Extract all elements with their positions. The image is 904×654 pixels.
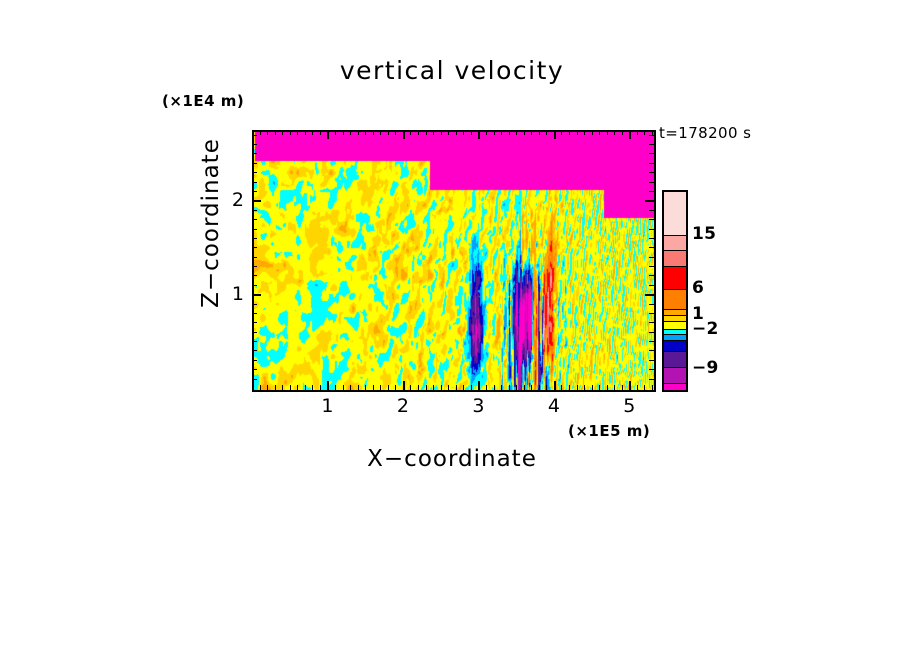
x-axis-minor-tick-top xyxy=(358,130,359,135)
colorbar-tick-label: 6 xyxy=(692,278,704,298)
colorbar-tick-label: 15 xyxy=(692,224,716,244)
x-axis-major-tick-top xyxy=(478,130,480,139)
x-axis-minor-tick-top xyxy=(569,130,570,135)
y-axis-minor-tick xyxy=(252,247,257,248)
x-axis-minor-tick-top xyxy=(260,130,261,135)
y-axis-minor-tick-right xyxy=(649,313,654,314)
x-axis-minor-tick-top xyxy=(577,130,578,135)
x-axis-major-tick xyxy=(403,381,405,390)
colorbar-band-divider xyxy=(664,250,686,251)
y-axis-minor-tick xyxy=(252,285,257,286)
x-axis-minor-tick xyxy=(290,385,291,390)
x-axis-minor-tick xyxy=(395,385,396,390)
x-axis-minor-tick-top xyxy=(607,130,608,135)
y-axis-minor-tick-right xyxy=(649,144,654,145)
x-axis-minor-tick-top xyxy=(584,130,585,135)
y-axis-minor-tick xyxy=(252,313,257,314)
x-axis-minor-tick-top xyxy=(622,130,623,135)
x-axis-minor-tick-top xyxy=(267,130,268,135)
x-axis-major-tick-top xyxy=(403,130,405,139)
x-axis-minor-tick xyxy=(592,385,593,390)
y-axis-minor-tick xyxy=(252,182,257,183)
x-axis-minor-tick xyxy=(358,385,359,390)
colorbar-band xyxy=(664,192,686,236)
x-axis-minor-tick-top xyxy=(644,130,645,135)
y-axis-title-container: Z−coordinate xyxy=(196,60,226,390)
y-axis-minor-tick xyxy=(252,153,257,154)
x-axis-minor-tick-top xyxy=(456,130,457,135)
y-axis-minor-tick-right xyxy=(649,163,654,164)
x-axis-minor-tick-top xyxy=(486,130,487,135)
colorbar-band-divider xyxy=(664,315,686,316)
colorbar-tick-label: −9 xyxy=(692,358,719,378)
x-axis-minor-tick xyxy=(584,385,585,390)
y-axis-minor-tick-right xyxy=(649,322,654,323)
x-axis-minor-tick xyxy=(509,385,510,390)
y-axis-minor-tick xyxy=(252,163,257,164)
y-axis-minor-tick xyxy=(252,219,257,220)
y-axis-minor-tick xyxy=(252,275,257,276)
y-axis-major-tick xyxy=(252,200,261,202)
x-axis-minor-tick xyxy=(577,385,578,390)
x-axis-minor-tick xyxy=(380,385,381,390)
x-axis-tick-label: 2 xyxy=(388,395,418,417)
y-axis-minor-tick xyxy=(252,257,257,258)
y-axis-minor-tick-right xyxy=(649,379,654,380)
y-axis-major-tick xyxy=(252,294,261,296)
x-axis-minor-tick xyxy=(569,385,570,390)
x-axis-minor-tick xyxy=(418,385,419,390)
x-axis-major-tick-top xyxy=(554,130,556,139)
colorbar-band-divider xyxy=(664,266,686,267)
y-axis-minor-tick xyxy=(252,341,257,342)
x-axis-minor-tick xyxy=(561,385,562,390)
x-axis-minor-tick-top xyxy=(282,130,283,135)
colorbar-band xyxy=(664,368,686,384)
x-axis-minor-tick xyxy=(652,385,653,390)
y-axis-minor-tick-right xyxy=(649,360,654,361)
y-axis-minor-tick xyxy=(252,350,257,351)
x-axis-minor-tick xyxy=(305,385,306,390)
x-axis-minor-tick-top xyxy=(448,130,449,135)
colorbar[interactable] xyxy=(662,190,688,392)
x-axis-minor-tick xyxy=(320,385,321,390)
colorbar-tick-label: −2 xyxy=(692,319,719,339)
x-axis-minor-tick-top xyxy=(388,130,389,135)
y-axis-tick-label: 1 xyxy=(214,283,244,305)
x-axis-minor-tick xyxy=(275,385,276,390)
x-axis-minor-tick xyxy=(463,385,464,390)
contour-plot-area[interactable] xyxy=(252,130,656,392)
colorbar-band xyxy=(664,290,686,310)
x-axis-minor-tick xyxy=(524,385,525,390)
x-axis-minor-tick xyxy=(373,385,374,390)
x-axis-minor-tick xyxy=(599,385,600,390)
colorbar-band-divider xyxy=(664,383,686,384)
y-axis-minor-tick-right xyxy=(649,135,654,136)
y-axis-minor-tick xyxy=(252,322,257,323)
colorbar-band-divider xyxy=(664,309,686,310)
x-axis-minor-tick-top xyxy=(539,130,540,135)
x-axis-minor-tick-top xyxy=(418,130,419,135)
colorbar-band-divider xyxy=(664,289,686,290)
y-axis-minor-tick xyxy=(252,266,257,267)
x-axis-minor-tick-top xyxy=(501,130,502,135)
colorbar-band-divider xyxy=(664,235,686,236)
y-axis-minor-tick-right xyxy=(649,332,654,333)
x-axis-minor-tick-top xyxy=(297,130,298,135)
x-axis-minor-tick xyxy=(388,385,389,390)
y-axis-minor-tick xyxy=(252,369,257,370)
y-axis-minor-tick-right xyxy=(649,369,654,370)
x-axis-minor-tick xyxy=(335,385,336,390)
x-axis-tick-label: 3 xyxy=(463,395,493,417)
x-axis-tick-label: 5 xyxy=(614,395,644,417)
x-axis-minor-tick-top xyxy=(561,130,562,135)
x-axis-minor-tick xyxy=(365,385,366,390)
x-axis-minor-tick xyxy=(410,385,411,390)
y-axis-minor-tick-right xyxy=(649,285,654,286)
x-axis-minor-tick-top xyxy=(426,130,427,135)
y-axis-title: Z−coordinate xyxy=(198,58,224,388)
x-axis-minor-tick-top xyxy=(350,130,351,135)
x-axis-minor-tick xyxy=(260,385,261,390)
x-axis-minor-tick-top xyxy=(373,130,374,135)
x-axis-minor-tick xyxy=(350,385,351,390)
x-axis-minor-tick xyxy=(282,385,283,390)
x-axis-minor-tick-top xyxy=(441,130,442,135)
x-axis-minor-tick xyxy=(486,385,487,390)
x-axis-minor-tick-top xyxy=(516,130,517,135)
x-axis-minor-tick xyxy=(433,385,434,390)
y-axis-minor-tick xyxy=(252,135,257,136)
x-axis-minor-tick-top xyxy=(531,130,532,135)
x-axis-minor-tick xyxy=(622,385,623,390)
velocity-field-canvas xyxy=(254,132,654,390)
y-axis-minor-tick xyxy=(252,229,257,230)
y-axis-minor-tick-right xyxy=(649,247,654,248)
y-axis-minor-tick-right xyxy=(649,304,654,305)
x-axis-minor-tick-top xyxy=(395,130,396,135)
y-axis-minor-tick xyxy=(252,144,257,145)
y-axis-major-tick-right xyxy=(645,200,654,202)
x-axis-major-tick xyxy=(629,381,631,390)
y-axis-minor-tick-right xyxy=(649,182,654,183)
x-axis-minor-tick xyxy=(297,385,298,390)
x-axis-minor-tick xyxy=(312,385,313,390)
x-axis-minor-tick xyxy=(644,385,645,390)
x-axis-minor-tick-top xyxy=(410,130,411,135)
y-axis-tick-label: 2 xyxy=(214,189,244,211)
x-axis-minor-tick-top xyxy=(494,130,495,135)
x-axis-minor-tick-top xyxy=(343,130,344,135)
colorbar-band xyxy=(664,251,686,267)
x-axis-minor-tick xyxy=(448,385,449,390)
y-axis-minor-tick-right xyxy=(649,191,654,192)
x-axis-minor-tick-top xyxy=(614,130,615,135)
y-axis-minor-tick-right xyxy=(649,350,654,351)
x-axis-minor-tick xyxy=(607,385,608,390)
x-axis-minor-tick-top xyxy=(335,130,336,135)
y-axis-minor-tick xyxy=(252,304,257,305)
x-axis-minor-tick xyxy=(531,385,532,390)
x-axis-title: X−coordinate xyxy=(252,446,652,472)
x-axis-major-tick xyxy=(554,381,556,390)
colorbar-band-divider xyxy=(664,334,686,335)
colorbar-band xyxy=(664,352,686,368)
x-axis-minor-tick-top xyxy=(305,130,306,135)
x-axis-minor-tick-top xyxy=(637,130,638,135)
x-axis-minor-tick-top xyxy=(365,130,366,135)
page-title: vertical velocity xyxy=(252,56,652,85)
y-axis-minor-tick-right xyxy=(649,153,654,154)
colorbar-band xyxy=(664,236,686,251)
y-axis-minor-tick-right xyxy=(649,229,654,230)
y-axis-minor-tick xyxy=(252,238,257,239)
y-axis-minor-tick xyxy=(252,172,257,173)
y-axis-minor-tick xyxy=(252,191,257,192)
x-axis-minor-tick-top xyxy=(599,130,600,135)
y-axis-minor-tick-right xyxy=(649,238,654,239)
x-axis-minor-tick xyxy=(441,385,442,390)
y-axis-minor-tick-right xyxy=(649,275,654,276)
x-axis-minor-tick xyxy=(516,385,517,390)
y-axis-minor-tick-right xyxy=(649,266,654,267)
x-axis-major-tick-top xyxy=(629,130,631,139)
x-axis-minor-tick xyxy=(637,385,638,390)
x-axis-minor-tick-top xyxy=(320,130,321,135)
x-axis-minor-tick xyxy=(539,385,540,390)
colorbar-band xyxy=(664,267,686,290)
y-axis-minor-tick-right xyxy=(649,210,654,211)
x-axis-minor-tick xyxy=(501,385,502,390)
x-axis-minor-tick-top xyxy=(380,130,381,135)
x-axis-minor-tick xyxy=(267,385,268,390)
x-axis-minor-tick xyxy=(343,385,344,390)
y-axis-minor-tick-right xyxy=(649,172,654,173)
x-axis-major-tick xyxy=(327,381,329,390)
x-axis-minor-tick-top xyxy=(312,130,313,135)
x-axis-minor-tick-top xyxy=(290,130,291,135)
y-axis-minor-tick xyxy=(252,210,257,211)
x-axis-minor-tick-top xyxy=(471,130,472,135)
x-axis-major-tick xyxy=(478,381,480,390)
time-stamp-annotation: t=178200 s xyxy=(659,124,751,142)
x-axis-minor-tick-top xyxy=(524,130,525,135)
x-axis-minor-tick xyxy=(456,385,457,390)
y-axis-minor-tick-right xyxy=(649,219,654,220)
x-axis-unit-label: (×1E5 m) xyxy=(568,422,650,440)
y-axis-major-tick-right xyxy=(645,294,654,296)
x-axis-minor-tick-top xyxy=(463,130,464,135)
colorbar-band-divider xyxy=(664,329,686,330)
x-axis-tick-label: 1 xyxy=(312,395,342,417)
colorbar-band-divider xyxy=(664,351,686,352)
x-axis-tick-label: 4 xyxy=(539,395,569,417)
x-axis-minor-tick-top xyxy=(509,130,510,135)
y-axis-minor-tick xyxy=(252,360,257,361)
colorbar-band xyxy=(664,384,686,392)
x-axis-minor-tick-top xyxy=(592,130,593,135)
colorbar-band-divider xyxy=(664,340,686,341)
x-axis-minor-tick xyxy=(471,385,472,390)
x-axis-minor-tick-top xyxy=(433,130,434,135)
colorbar-band-divider xyxy=(664,321,686,322)
x-axis-minor-tick xyxy=(546,385,547,390)
figure-root: vertical velocity (×1E4 m) t=178200 s Z−… xyxy=(0,0,904,654)
x-axis-minor-tick xyxy=(426,385,427,390)
x-axis-minor-tick-top xyxy=(275,130,276,135)
colorbar-band-divider xyxy=(664,367,686,368)
x-axis-minor-tick xyxy=(614,385,615,390)
y-axis-minor-tick-right xyxy=(649,341,654,342)
y-axis-minor-tick xyxy=(252,332,257,333)
x-axis-minor-tick xyxy=(494,385,495,390)
x-axis-minor-tick-top xyxy=(546,130,547,135)
y-axis-minor-tick-right xyxy=(649,257,654,258)
x-axis-major-tick-top xyxy=(327,130,329,139)
y-axis-minor-tick xyxy=(252,379,257,380)
